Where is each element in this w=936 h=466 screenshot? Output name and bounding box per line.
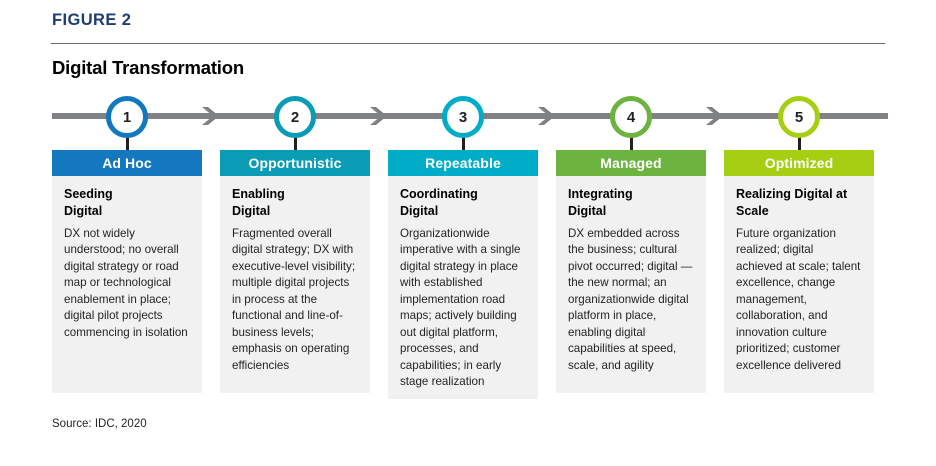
timeline-node-number: 1	[123, 109, 131, 126]
stage-card-description: DX embedded across the business; cultura…	[568, 226, 694, 374]
header-divider	[51, 43, 885, 44]
stage-card-2[interactable]: OpportunisticEnabling DigitalFragmented …	[220, 150, 370, 393]
timeline-node-number: 3	[459, 109, 467, 126]
stage-card-body-1: Seeding DigitalDX not widely understood;…	[52, 176, 202, 393]
figure-label: FIGURE 2	[52, 11, 131, 30]
timeline-node-5[interactable]: 5	[778, 96, 820, 138]
timeline-node-number: 5	[795, 109, 803, 126]
source-note: Source: IDC, 2020	[52, 418, 147, 430]
timeline-arrow-icon	[536, 106, 558, 126]
timeline-node-1[interactable]: 1	[106, 96, 148, 138]
stage-card-body-4: Integrating DigitalDX embedded across th…	[556, 176, 706, 393]
figure-title: Digital Transformation	[52, 57, 244, 79]
timeline-node-4[interactable]: 4	[610, 96, 652, 138]
stage-card-description: DX not widely understood; no overall dig…	[64, 226, 190, 341]
stage-card-description: Fragmented overall digital strategy; DX …	[232, 226, 358, 374]
maturity-timeline: 12345	[52, 96, 888, 146]
timeline-arrow-icon	[704, 106, 726, 126]
stage-card-body-5: Realizing Digital at ScaleFuture organiz…	[724, 176, 874, 393]
timeline-node-2[interactable]: 2	[274, 96, 316, 138]
stage-card-body-2: Enabling DigitalFragmented overall digit…	[220, 176, 370, 393]
stage-card-header-1: Ad Hoc	[52, 150, 202, 176]
timeline-arrow-icon	[200, 106, 222, 126]
timeline-node-number: 4	[627, 109, 635, 126]
stage-card-subtitle: Enabling Digital	[232, 186, 358, 219]
stage-card-header-5: Optimized	[724, 150, 874, 176]
timeline-node-number: 2	[291, 109, 299, 126]
stage-card-body-3: Coordinating DigitalOrganizationwide imp…	[388, 176, 538, 399]
figure-container: FIGURE 2 Digital Transformation 12345 Ad…	[0, 0, 936, 466]
stage-card-description: Future organization realized; digital ac…	[736, 226, 862, 374]
stage-card-3[interactable]: RepeatableCoordinating DigitalOrganizati…	[388, 150, 538, 399]
timeline-node-3[interactable]: 3	[442, 96, 484, 138]
stage-card-subtitle: Seeding Digital	[64, 186, 190, 219]
stage-card-header-3: Repeatable	[388, 150, 538, 176]
timeline-arrow-icon	[368, 106, 390, 126]
stage-card-4[interactable]: ManagedIntegrating DigitalDX embedded ac…	[556, 150, 706, 393]
stage-card-header-4: Managed	[556, 150, 706, 176]
stage-card-subtitle: Coordinating Digital	[400, 186, 526, 219]
stage-card-subtitle: Realizing Digital at Scale	[736, 186, 862, 219]
stage-card-header-2: Opportunistic	[220, 150, 370, 176]
stage-card-description: Organizationwide imperative with a singl…	[400, 226, 526, 391]
stage-card-1[interactable]: Ad HocSeeding DigitalDX not widely under…	[52, 150, 202, 393]
stage-card-subtitle: Integrating Digital	[568, 186, 694, 219]
stage-card-5[interactable]: OptimizedRealizing Digital at ScaleFutur…	[724, 150, 874, 393]
